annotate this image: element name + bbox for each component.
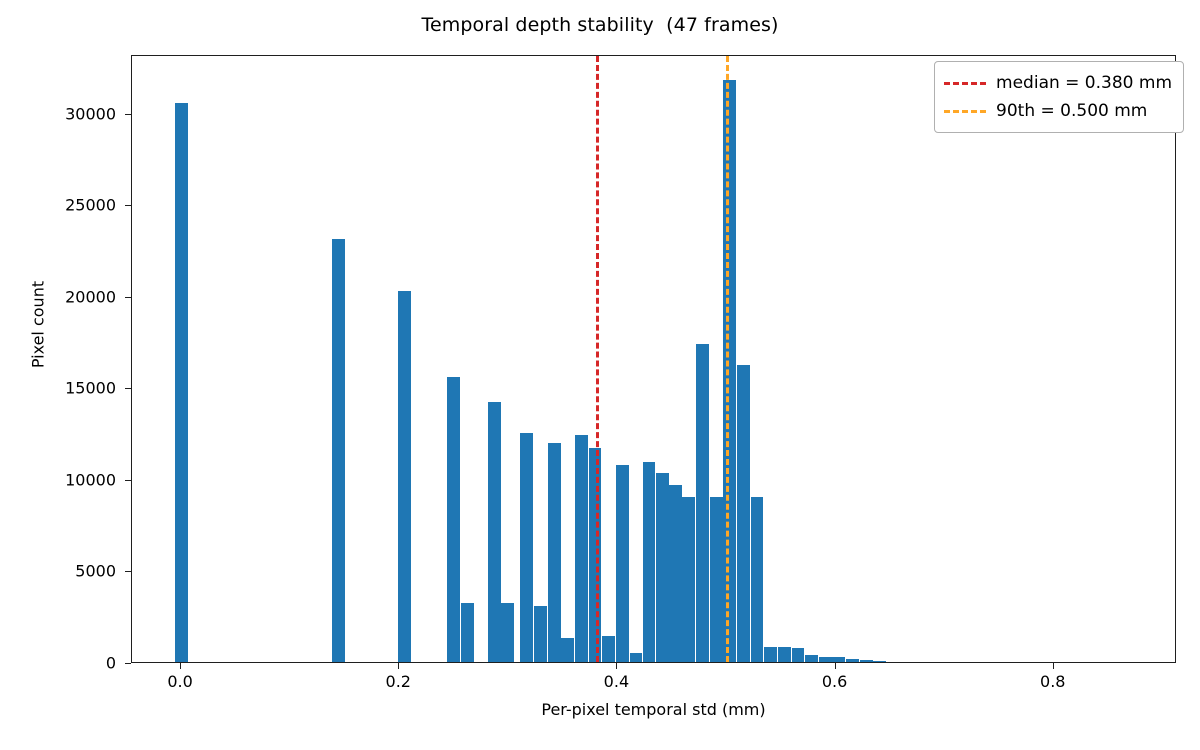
- legend-item-percentile-90: 90th = 0.500 mm: [944, 97, 1172, 125]
- x-tick-label: 0.6: [822, 672, 847, 691]
- histogram-bar: [616, 465, 629, 662]
- histogram-bar: [792, 648, 805, 662]
- x-tick-label: 0.2: [386, 672, 411, 691]
- x-tick: [1053, 663, 1054, 669]
- histogram-bar: [832, 657, 845, 662]
- legend-dash-percentile-90: [944, 110, 986, 113]
- histogram-bar: [682, 497, 695, 662]
- histogram-bar: [846, 659, 859, 662]
- x-axis-label: Per-pixel temporal std (mm): [131, 700, 1176, 719]
- y-tick-label: 0: [0, 654, 116, 673]
- histogram-bar: [764, 647, 777, 662]
- legend-label-median: median = 0.380 mm: [996, 73, 1172, 93]
- y-axis-label: Pixel count: [29, 225, 48, 425]
- y-tick-label: 30000: [0, 104, 116, 123]
- histogram-bar: [710, 497, 723, 662]
- x-tick-label: 0.8: [1040, 672, 1065, 691]
- y-tick-label: 25000: [0, 196, 116, 215]
- y-tick: [125, 480, 131, 481]
- legend-dash-median: [944, 82, 986, 85]
- y-tick: [125, 388, 131, 389]
- histogram-bar: [175, 103, 188, 662]
- chart-title: Temporal depth stability (47 frames): [0, 14, 1200, 36]
- y-tick-label: 20000: [0, 287, 116, 306]
- plot-area: [132, 56, 1175, 662]
- x-tick: [835, 663, 836, 669]
- y-tick: [125, 571, 131, 572]
- histogram-bar: [723, 80, 736, 662]
- y-tick-label: 10000: [0, 470, 116, 489]
- legend-label-percentile-90: 90th = 0.500 mm: [996, 101, 1147, 121]
- y-tick: [125, 205, 131, 206]
- histogram-bar: [643, 462, 656, 662]
- histogram-bar: [561, 638, 574, 662]
- chart-legend: median = 0.380 mm 90th = 0.500 mm: [934, 61, 1184, 133]
- histogram-bar: [548, 443, 561, 662]
- histogram-bar: [520, 433, 533, 662]
- x-tick-label: 0.4: [604, 672, 629, 691]
- histogram-bar: [488, 402, 501, 662]
- histogram-bar: [669, 485, 682, 662]
- histogram-bar: [630, 653, 643, 662]
- vline-median: [596, 56, 599, 662]
- histogram-bar: [656, 473, 669, 662]
- histogram-bar: [737, 365, 750, 662]
- histogram-bar: [602, 636, 615, 662]
- histogram-bar: [398, 291, 411, 662]
- histogram-bar: [501, 603, 514, 662]
- histogram-bar: [873, 661, 886, 662]
- x-tick: [398, 663, 399, 669]
- y-tick: [125, 663, 131, 664]
- y-tick: [125, 114, 131, 115]
- histogram-bar: [447, 377, 460, 662]
- plot-frame: [131, 55, 1176, 663]
- y-tick: [125, 297, 131, 298]
- histogram-bar: [696, 344, 709, 662]
- histogram-bar: [778, 647, 791, 662]
- y-tick-label: 5000: [0, 562, 116, 581]
- vline-percentile-90: [726, 56, 729, 662]
- histogram-bar: [534, 606, 547, 662]
- x-tick: [616, 663, 617, 669]
- x-tick-label: 0.0: [167, 672, 192, 691]
- histogram-bar: [332, 239, 345, 662]
- chart-figure: Temporal depth stability (47 frames) 0.0…: [0, 0, 1200, 750]
- histogram-bar: [860, 660, 873, 662]
- x-tick: [180, 663, 181, 669]
- histogram-bar: [575, 435, 588, 662]
- histogram-bar: [805, 655, 818, 662]
- histogram-bar: [461, 603, 474, 662]
- histogram-bar: [819, 657, 832, 662]
- legend-item-median: median = 0.380 mm: [944, 69, 1172, 97]
- y-tick-label: 15000: [0, 379, 116, 398]
- histogram-bar: [751, 497, 764, 662]
